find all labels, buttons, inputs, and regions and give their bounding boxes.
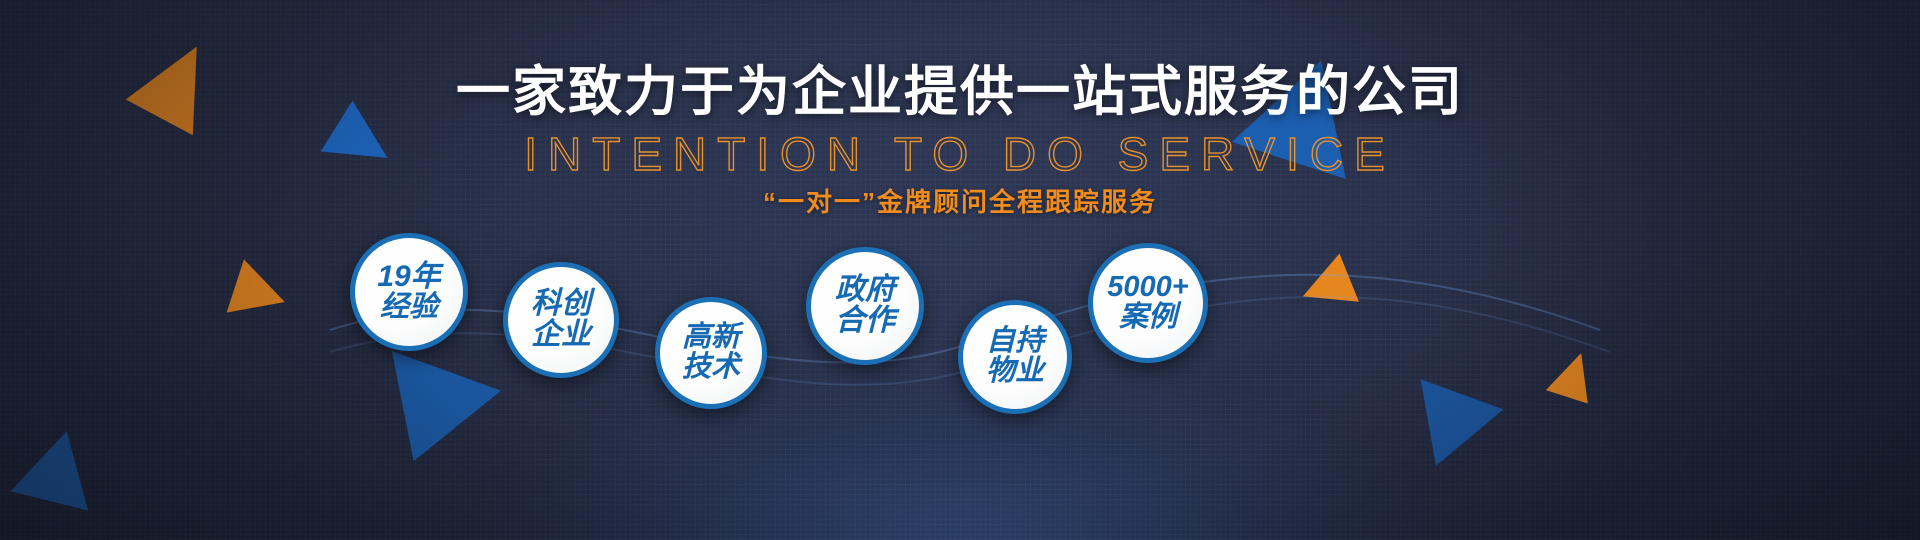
badge-government[interactable]: 政府 合作: [806, 247, 924, 365]
badge-tech-startup-line2: 企业: [531, 320, 591, 351]
badge-government-line1: 政府: [835, 275, 895, 306]
badge-property-line1: 自持: [986, 327, 1044, 357]
badge-tech-startup-line1: 科创: [531, 289, 591, 320]
badge-group: 19年 经验 科创 企业 高新 技术 政府 合作 自持 物业 5000+ 案例: [0, 0, 1920, 540]
badge-high-tech[interactable]: 高新 技术: [655, 297, 767, 409]
badge-high-tech-line2: 技术: [682, 353, 740, 383]
badge-cases-line1: 5000+: [1107, 273, 1188, 303]
badge-cases-line2: 案例: [1119, 303, 1177, 333]
badge-government-line2: 合作: [835, 306, 895, 337]
badge-experience-line1: 19年: [377, 262, 440, 293]
promo-banner: 一家致力于为企业提供一站式服务的公司 INTENTION TO DO SERVI…: [0, 0, 1920, 540]
badge-tech-startup[interactable]: 科创 企业: [503, 262, 619, 378]
badge-experience-line2: 经验: [380, 293, 438, 323]
badge-property-line2: 物业: [986, 357, 1044, 387]
badge-experience[interactable]: 19年 经验: [350, 233, 468, 351]
badge-cases[interactable]: 5000+ 案例: [1088, 243, 1208, 363]
badge-high-tech-line1: 高新: [682, 323, 740, 353]
badge-property[interactable]: 自持 物业: [958, 300, 1072, 414]
